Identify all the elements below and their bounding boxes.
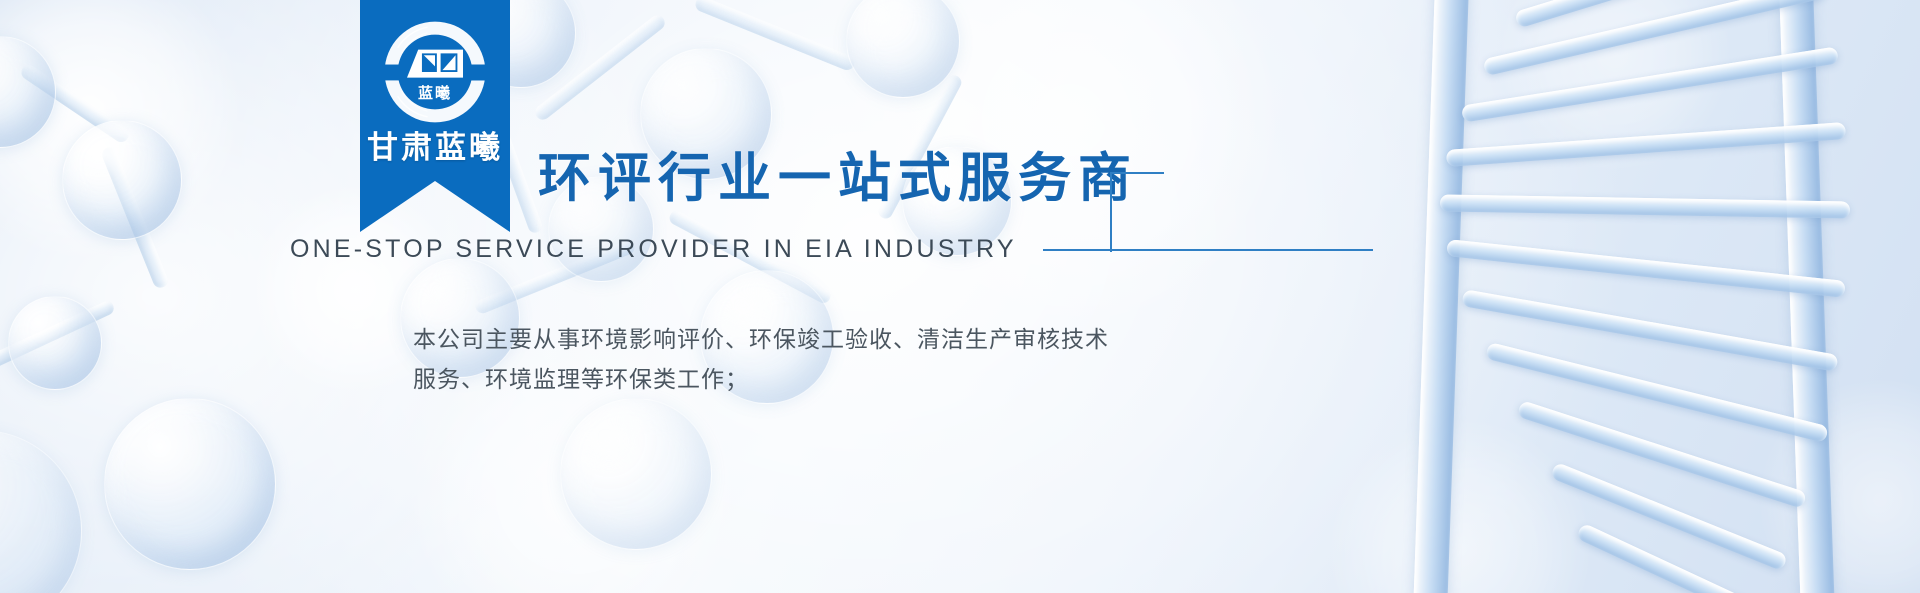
- dna-rung: [1576, 523, 1764, 593]
- molecule-sphere: [62, 120, 182, 240]
- molecule-sphere: [0, 430, 82, 593]
- corner-bracket-decoration: [1110, 172, 1164, 252]
- logo-mark-label: 蓝曦: [360, 82, 510, 103]
- background-decoration: [0, 0, 1920, 593]
- bloom-glow: [1760, 380, 1920, 593]
- molecule-bond: [0, 299, 116, 375]
- dna-rung: [1446, 122, 1846, 167]
- banner-description-line-2: 服务、环境监理等环保类工作；: [413, 360, 1109, 400]
- dna-rung: [1514, 0, 1806, 28]
- dna-rung: [1550, 462, 1788, 571]
- brand-flag: 蓝曦 甘肃蓝曦: [360, 0, 510, 232]
- subtitle-rule: [1043, 249, 1373, 251]
- dna-rung: [1485, 342, 1829, 443]
- banner-description: 本公司主要从事环境影响评价、环保竣工验收、清洁生产审核技术 服务、环境监理等环保…: [413, 320, 1109, 400]
- dna-rung: [1483, 0, 1828, 76]
- bloom-glow: [1330, 420, 1590, 593]
- molecule-bond: [100, 145, 170, 290]
- company-emblem-icon: [379, 16, 491, 128]
- dna-rung: [1446, 239, 1846, 298]
- molecule-sphere: [8, 296, 102, 390]
- molecule-bond: [19, 62, 132, 145]
- dna-strand: [1410, 0, 1472, 593]
- page-subtitle: ONE-STOP SERVICE PROVIDER IN EIA INDUSTR…: [290, 235, 1017, 264]
- dna-rung: [1461, 46, 1839, 122]
- dna-strand: [1776, 0, 1838, 593]
- dna-rung: [1517, 400, 1808, 509]
- hero-banner: 蓝曦 甘肃蓝曦 环评行业一站式服务商 ONE-STOP SERVICE PROV…: [0, 0, 1920, 593]
- molecule-sphere: [104, 398, 276, 570]
- brand-flag-name: 甘肃蓝曦: [360, 122, 510, 167]
- molecule-bond: [693, 0, 856, 72]
- molecule-sphere: [560, 398, 712, 550]
- molecule-bond: [532, 12, 667, 122]
- dna-rung: [1440, 194, 1850, 218]
- dna-rung: [1461, 289, 1838, 372]
- dna-helix-graphic: [1360, 0, 1920, 593]
- page-title: 环评行业一站式服务商: [538, 136, 1138, 212]
- banner-description-line-1: 本公司主要从事环境影响评价、环保竣工验收、清洁生产审核技术: [413, 320, 1109, 360]
- bloom-glow: [1500, 0, 1730, 170]
- bloom-glow: [0, 0, 240, 260]
- subtitle-row: ONE-STOP SERVICE PROVIDER IN EIA INDUSTR…: [290, 235, 1373, 264]
- molecule-sphere: [0, 36, 56, 148]
- molecule-sphere: [846, 0, 960, 98]
